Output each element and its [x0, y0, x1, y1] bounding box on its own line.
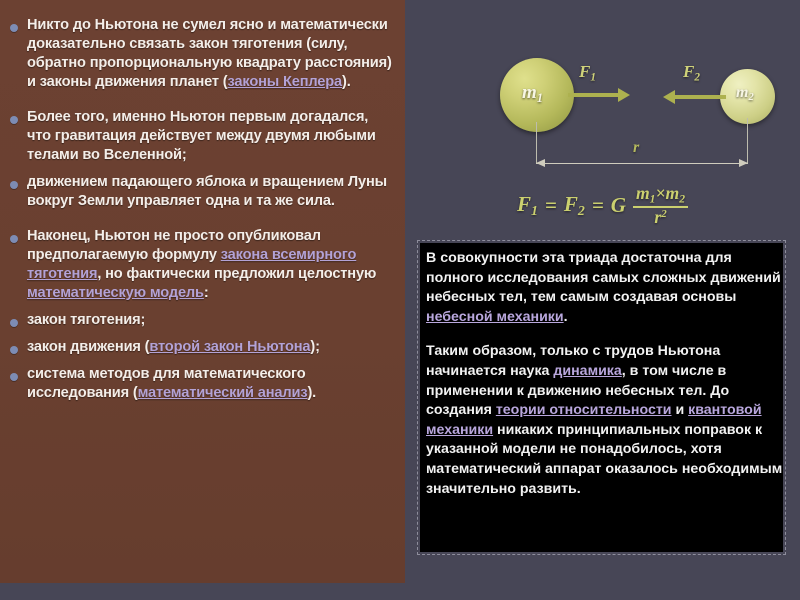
formula-f2: F2 [564, 192, 585, 219]
formula-denominator: r2 [633, 206, 688, 227]
mass2-subscript: 2 [748, 92, 753, 103]
formula-fraction: m1×m2 r2 [633, 185, 688, 227]
force1-label: F1 [579, 62, 596, 83]
inline-link[interactable]: небесной механики [426, 309, 564, 325]
mass1-label: m1 [522, 82, 543, 106]
slide-canvas: Никто до Ньютона не сумел ясно и математ… [0, 0, 800, 600]
inline-text: ). [307, 385, 316, 401]
inline-link[interactable]: математическую модель [27, 285, 204, 301]
inline-text: . [564, 309, 568, 325]
inline-text: движением падающего яблока и вращением Л… [27, 174, 387, 209]
bullet-list: Никто до Ньютона не сумел ясно и математ… [0, 16, 405, 404]
gravitation-formula: F1 = F2 = G m1×m2 r2 [405, 185, 800, 227]
inline-text: ). [342, 74, 351, 90]
bullet-text: Более того, именно Ньютон первым догадал… [27, 108, 395, 165]
bullet-text: Наконец, Ньютон не просто опубликовал пр… [27, 227, 395, 303]
callout-text: В совокупности эта триада достаточна для… [426, 249, 784, 499]
inline-text: закон тяготения; [27, 312, 145, 328]
force1-arrowhead-icon [618, 88, 630, 102]
callout-paragraph-triad: В совокупности эта триада достаточна для… [426, 249, 784, 327]
inline-text: ); [310, 339, 319, 355]
bullet-text: система методов для математического иссл… [27, 365, 395, 403]
bullet-dot-icon [10, 116, 18, 124]
distance-arrowhead-left-icon [536, 159, 545, 167]
distance-arrowhead-right-icon [739, 159, 748, 167]
force2-arrow-icon [674, 95, 726, 99]
force1-subscript: 1 [590, 71, 596, 83]
bullet-text: Никто до Ньютона не сумел ясно и математ… [27, 16, 395, 92]
inline-text: Более того, именно Ньютон первым догадал… [27, 109, 376, 163]
callout-paragraph-dynamics: Таким образом, только с трудов Ньютона н… [426, 342, 784, 499]
force2-symbol: F [683, 62, 694, 81]
bullet-apple-and-moon: движением падающего яблока и вращением Л… [0, 173, 399, 211]
bullet-text: закон тяготения; [27, 311, 395, 330]
inline-link[interactable]: законы Кеплера [228, 74, 343, 90]
formula-numerator: m1×m2 [633, 185, 688, 206]
bullet-dot-icon [10, 24, 18, 32]
distance-extension-line-left [536, 122, 537, 164]
bullet-law-of-gravitation: закон тяготения; [0, 311, 399, 330]
force2-arrowhead-icon [663, 90, 675, 104]
bullet-dot-icon [10, 319, 18, 327]
distance-dimension-line [536, 163, 748, 164]
bullet-system-of-methods: система методов для математического иссл… [0, 365, 399, 403]
distance-label: r [633, 139, 639, 157]
force1-arrow-icon [568, 93, 620, 97]
mass1-subscript: 1 [537, 91, 543, 105]
mass2-label: m2 [736, 84, 754, 103]
inline-link[interactable]: теории относительности [496, 402, 672, 418]
slide-footer-strip [0, 583, 800, 600]
formula-gravitational-constant: G [611, 193, 626, 218]
bullet-dot-icon [10, 181, 18, 189]
bullet-dot-icon [10, 235, 18, 243]
left-content-panel: Никто до Ньютона не сумел ясно и математ… [0, 0, 405, 583]
inline-text: : [204, 285, 209, 301]
bullet-dot-icon [10, 346, 18, 354]
inline-text: В совокупности эта триада достаточна для… [426, 250, 781, 305]
inline-text: закон движения ( [27, 339, 149, 355]
force1-symbol: F [579, 62, 590, 81]
distance-extension-line-right [747, 118, 748, 164]
formula-equals-1: = [545, 193, 557, 218]
bullet-law-of-motion: закон движения (второй закон Ньютона); [0, 338, 399, 357]
force2-subscript: 2 [694, 71, 700, 83]
inline-link[interactable]: математический анализ [138, 385, 308, 401]
inline-text: и [672, 402, 689, 418]
inline-link[interactable]: второй закон Ньютона [149, 339, 310, 355]
bullet-newton-published-model: Наконец, Ньютон не просто опубликовал пр… [0, 227, 399, 303]
bullet-text: движением падающего яблока и вращением Л… [27, 173, 395, 211]
bullet-gravity-acts-between-bodies: Более того, именно Ньютон первым догадал… [0, 108, 399, 165]
inline-text: , но фактически предложил целостную [97, 266, 376, 282]
bullet-text: закон движения (второй закон Ньютона); [27, 338, 395, 357]
formula-f1: F1 [517, 192, 538, 219]
inline-link[interactable]: динамика [553, 363, 621, 379]
mass2-symbol: m [736, 84, 748, 101]
bullet-dot-icon [10, 373, 18, 381]
mass1-symbol: m [522, 82, 537, 103]
formula-equals-2: = [592, 193, 604, 218]
force2-label: F2 [683, 62, 700, 83]
bullet-newton-linked-gravitation-kepler: Никто до Ньютона не сумел ясно и математ… [0, 16, 399, 92]
